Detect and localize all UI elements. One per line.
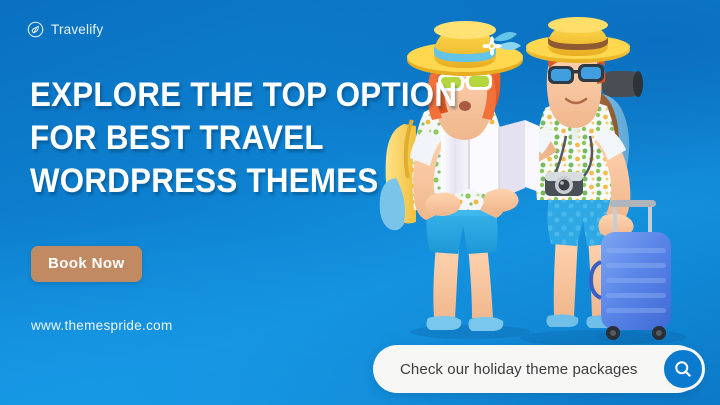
search-placeholder-text: Check our holiday theme packages: [400, 361, 638, 378]
suitcase: [591, 200, 671, 340]
headline-line-3: WordPress themes: [30, 160, 398, 203]
search-bar[interactable]: Check our holiday theme packages: [373, 345, 701, 393]
headline-line-2: for best travel: [30, 117, 398, 160]
book-now-button[interactable]: Book Now: [31, 246, 142, 282]
travel-promo-banner: Travelify Explore the top option for bes…: [0, 0, 720, 405]
page-title: Explore the top option for best travel W…: [30, 74, 430, 203]
search-button[interactable]: [661, 347, 705, 391]
brand-name: Travelify: [51, 22, 103, 37]
folded-map: [441, 117, 539, 199]
website-url: www.themespride.com: [31, 318, 173, 333]
search-icon: [673, 359, 693, 379]
headline-line-1: Explore the top option: [30, 74, 398, 117]
brand-logo[interactable]: Travelify: [27, 21, 103, 38]
search-input-container[interactable]: Check our holiday theme packages: [373, 345, 701, 393]
character-right: [469, 17, 643, 328]
leaf-circle-icon: [27, 21, 44, 38]
